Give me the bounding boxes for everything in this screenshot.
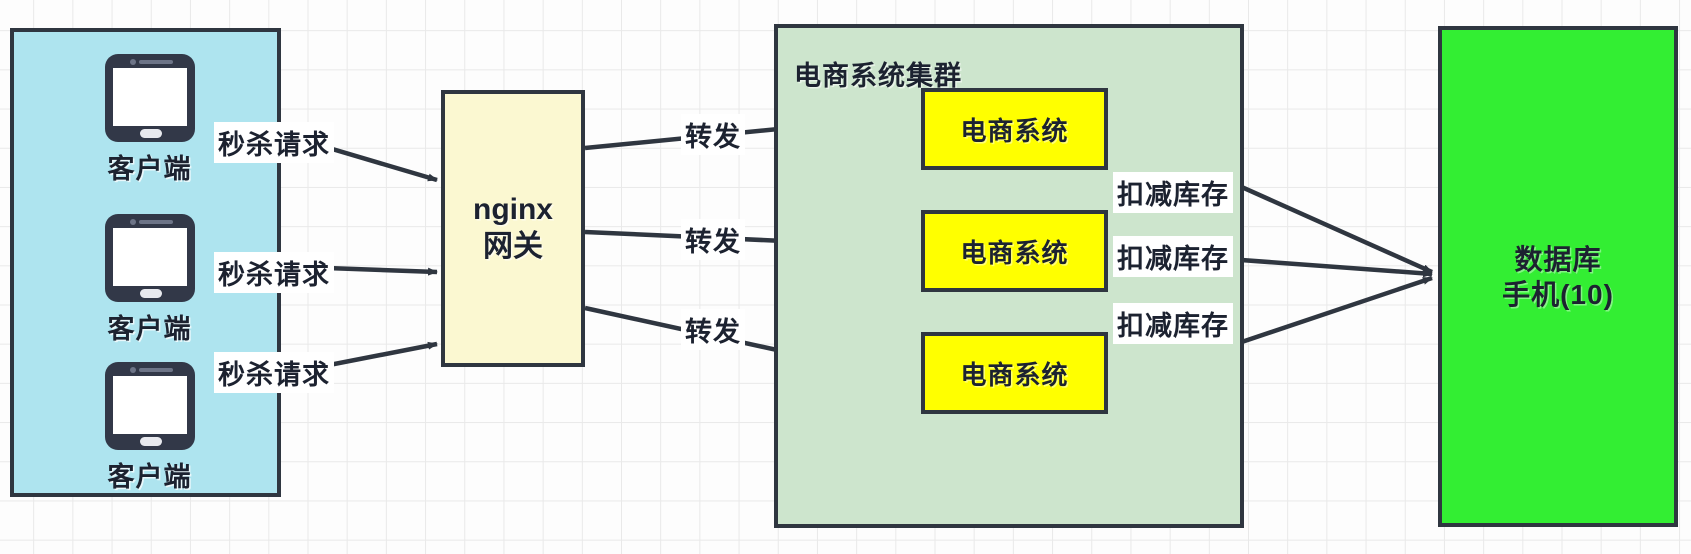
edge-label-deduct-1: 扣减库存 [1113, 172, 1233, 213]
phone-speaker-bar [139, 60, 173, 64]
edge-label-request-3: 秒杀请求 [214, 352, 334, 393]
edge-label-forward-3: 转发 [681, 309, 745, 350]
mobile-phone-icon [105, 54, 195, 142]
phone-camera-dot [130, 367, 136, 373]
phone-screen [113, 228, 187, 286]
phone-home-button [140, 129, 162, 138]
edge-label-deduct-3: 扣减库存 [1113, 303, 1233, 344]
service-label-1: 电商系统 [960, 111, 1068, 148]
edge-label-request-2: 秒杀请求 [214, 252, 334, 293]
phone-speaker-bar [139, 220, 173, 224]
ecommerce-service-node-1[interactable]: 电商系统 [921, 88, 1108, 170]
client-label-3: 客户端 [14, 455, 285, 494]
gateway-label-line2: 网关 [483, 229, 543, 266]
diagram-canvas: 客户端 客户端 客户端 nginx 网关 电商系统集群 [0, 0, 1691, 554]
client-label-2: 客户端 [14, 307, 285, 346]
edge-label-forward-2: 转发 [681, 219, 745, 260]
service-label-2: 电商系统 [960, 233, 1068, 270]
service-label-3: 电商系统 [960, 355, 1068, 392]
mobile-phone-icon [105, 214, 195, 302]
database-label-line2: 手机(10) [1502, 277, 1614, 312]
phone-camera-dot [130, 219, 136, 225]
phone-speaker-bar [139, 368, 173, 372]
mobile-phone-icon [105, 362, 195, 450]
database-node[interactable]: 数据库 手机(10) [1438, 26, 1678, 527]
phone-home-button [140, 437, 162, 446]
client-item-1[interactable]: 客户端 [14, 54, 285, 186]
phone-home-button [140, 289, 162, 298]
edge-label-forward-1: 转发 [681, 114, 745, 155]
phone-screen [113, 68, 187, 126]
database-label-line1: 数据库 [1502, 242, 1614, 277]
edge-label-deduct-2: 扣减库存 [1113, 236, 1233, 277]
ecommerce-service-node-2[interactable]: 电商系统 [921, 210, 1108, 292]
phone-screen [113, 376, 187, 434]
gateway-label-line1: nginx [473, 192, 553, 229]
nginx-gateway-node[interactable]: nginx 网关 [441, 90, 585, 367]
ecommerce-service-node-3[interactable]: 电商系统 [921, 332, 1108, 414]
edge-label-request-1: 秒杀请求 [214, 122, 334, 163]
phone-camera-dot [130, 59, 136, 65]
